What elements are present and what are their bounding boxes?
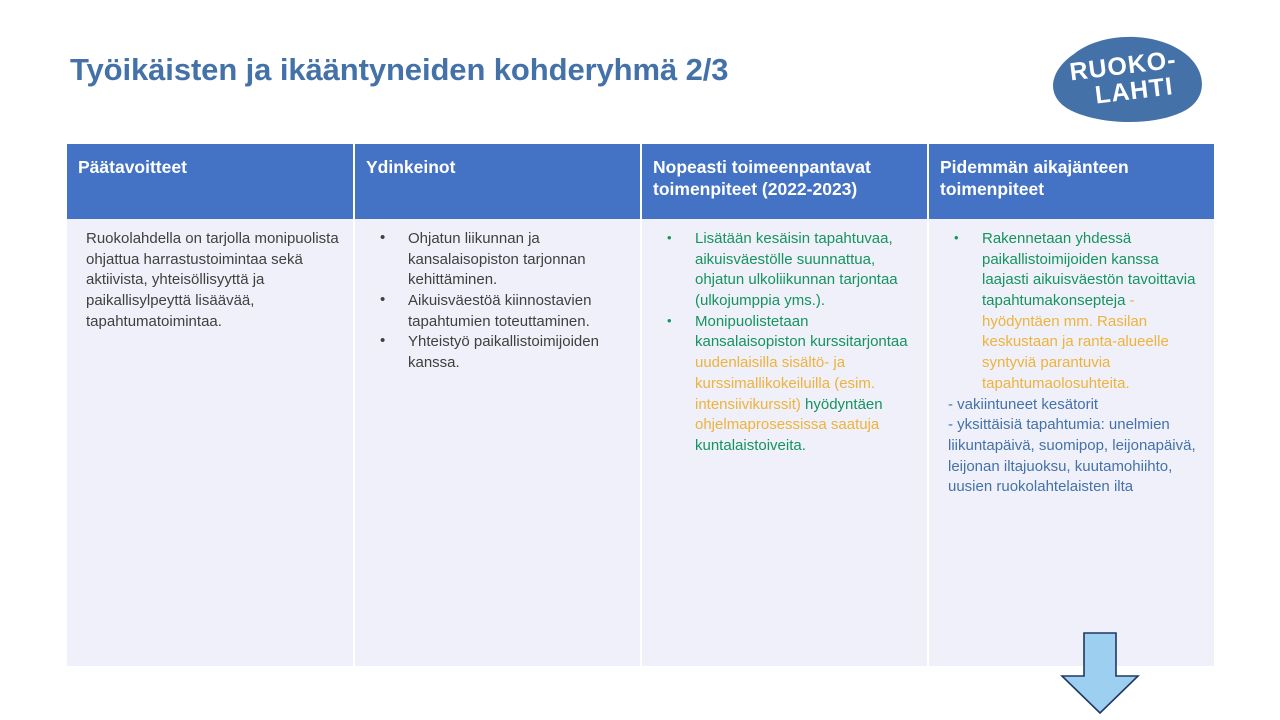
list-item: Monipuolistetaan kansalaisopiston kurssi… <box>661 312 916 457</box>
down-arrow-shape <box>1062 633 1138 713</box>
text-segment-green: Rakennetaan yhdessä paikallistoimijoiden… <box>982 230 1195 309</box>
cell-pidemman-aikajanteen: Rakennetaan yhdessä paikallistoimijoiden… <box>928 219 1214 666</box>
ydinkeinot-bullet-list: Ohjatun liikunnan ja kansalaisopiston ta… <box>366 229 629 374</box>
list-item: Ohjatun liikunnan ja kansalaisopiston ta… <box>374 229 629 291</box>
cell-ydinkeinot: Ohjatun liikunnan ja kansalaisopiston ta… <box>354 219 641 666</box>
list-item: Yhteistyö paikallistoimijoiden kanssa. <box>374 332 629 373</box>
list-item-text: Lisätään kesäisin tapahtuvaa, aikuisväes… <box>695 230 898 309</box>
cell-paatavoitteet: Ruokolahdella on tarjolla monipuolista o… <box>67 219 354 666</box>
text-segment-green: Monipuolistetaan kansalaisopiston kurssi… <box>695 313 908 351</box>
column-header-pidemman-aikajanteen: Pidemmän aikajänteen toimenpiteet <box>928 144 1214 219</box>
text-segment-orange: ohjelmaprosessissa saatuja <box>695 416 879 433</box>
table-header-row: Päätavoitteet Ydinkeinot Nopeasti toimee… <box>67 144 1214 219</box>
column-header-ydinkeinot: Ydinkeinot <box>354 144 641 219</box>
ruokolahti-logo: RUOKO- LAHTI <box>1040 34 1208 122</box>
column-header-paatavoitteet: Päätavoitteet <box>67 144 354 219</box>
page-title: Työikäisten ja ikääntyneiden kohderyhmä … <box>70 52 728 88</box>
cell-nopeasti-toimeenpantavat: Lisätään kesäisin tapahtuvaa, aikuisväes… <box>641 219 928 666</box>
text-segment-green: kuntalaistoiveita. <box>695 437 806 454</box>
table-row: Ruokolahdella on tarjolla monipuolista o… <box>67 219 1214 666</box>
dash-line-2: - yksittäisiä tapahtumia: unelmien liiku… <box>948 415 1203 498</box>
objectives-table: Päätavoitteet Ydinkeinot Nopeasti toimee… <box>67 144 1214 666</box>
paatavoitteet-paragraph: Ruokolahdella on tarjolla monipuolista o… <box>78 229 342 332</box>
list-item: Aikuisväestöä kiinnostavien tapahtumien … <box>374 291 629 332</box>
dash-line-1: - vakiintuneet kesätorit <box>948 395 1203 416</box>
list-item: Rakennetaan yhdessä paikallistoimijoiden… <box>948 229 1203 395</box>
text-segment-green: hyödyntäen <box>801 396 883 413</box>
pidemman-dash-list: - vakiintuneet kesätorit - yksittäisiä t… <box>940 395 1203 498</box>
nopeasti-bullet-list: Lisätään kesäisin tapahtuvaa, aikuisväes… <box>653 229 916 457</box>
down-arrow-icon <box>1057 630 1143 716</box>
column-header-nopeasti-toimeenpantavat: Nopeasti toimeenpantavat toimenpiteet (2… <box>641 144 928 219</box>
pidemman-bullet-list: Rakennetaan yhdessä paikallistoimijoiden… <box>940 229 1203 395</box>
list-item: Lisätään kesäisin tapahtuvaa, aikuisväes… <box>661 229 916 312</box>
